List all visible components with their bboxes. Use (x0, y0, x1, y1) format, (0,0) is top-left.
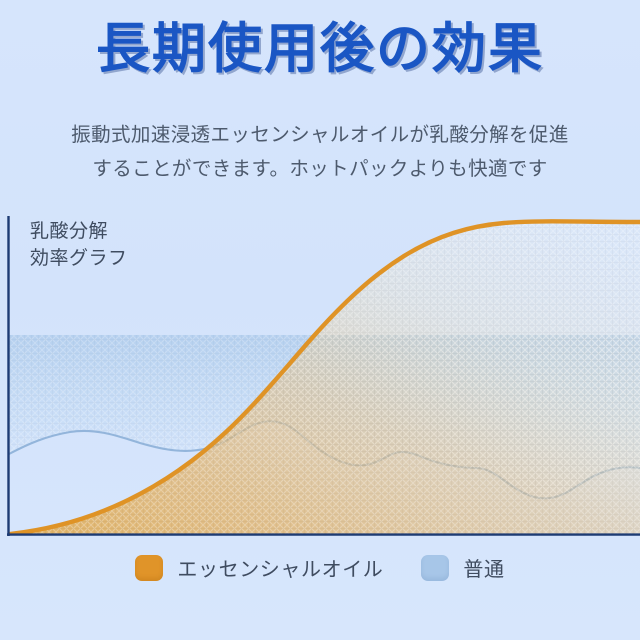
subtitle-line-1: 振動式加速浸透エッセンシャルオイルが乳酸分解を促進 (0, 118, 640, 152)
subtitle-line-2: することができます。ホットパックよりも快適です (0, 152, 640, 186)
legend-item-normal[interactable]: 普通 (421, 553, 504, 582)
legend-label-essential-oil: エッセンシャルオイル (177, 553, 383, 582)
subtitle-block: 振動式加速浸透エッセンシャルオイルが乳酸分解を促進 することができます。ホットパ… (0, 118, 640, 186)
chart-caption-line-2: 効率グラフ (30, 245, 128, 272)
poster-root: 長期使用後の効果 振動式加速浸透エッセンシャルオイルが乳酸分解を促進 することが… (0, 0, 640, 640)
efficiency-chart: 乳酸分解 効率グラフ (0, 200, 640, 545)
legend-item-essential-oil[interactable]: エッセンシャルオイル (135, 553, 383, 582)
chart-legend: エッセンシャルオイル 普通 (0, 553, 640, 582)
legend-swatch-essential-oil-icon (135, 555, 163, 581)
chart-caption-line-1: 乳酸分解 (30, 218, 128, 245)
legend-label-normal: 普通 (463, 553, 504, 582)
legend-swatch-normal-icon (421, 555, 449, 581)
chart-caption: 乳酸分解 効率グラフ (30, 218, 128, 272)
page-title: 長期使用後の効果 (0, 18, 640, 80)
